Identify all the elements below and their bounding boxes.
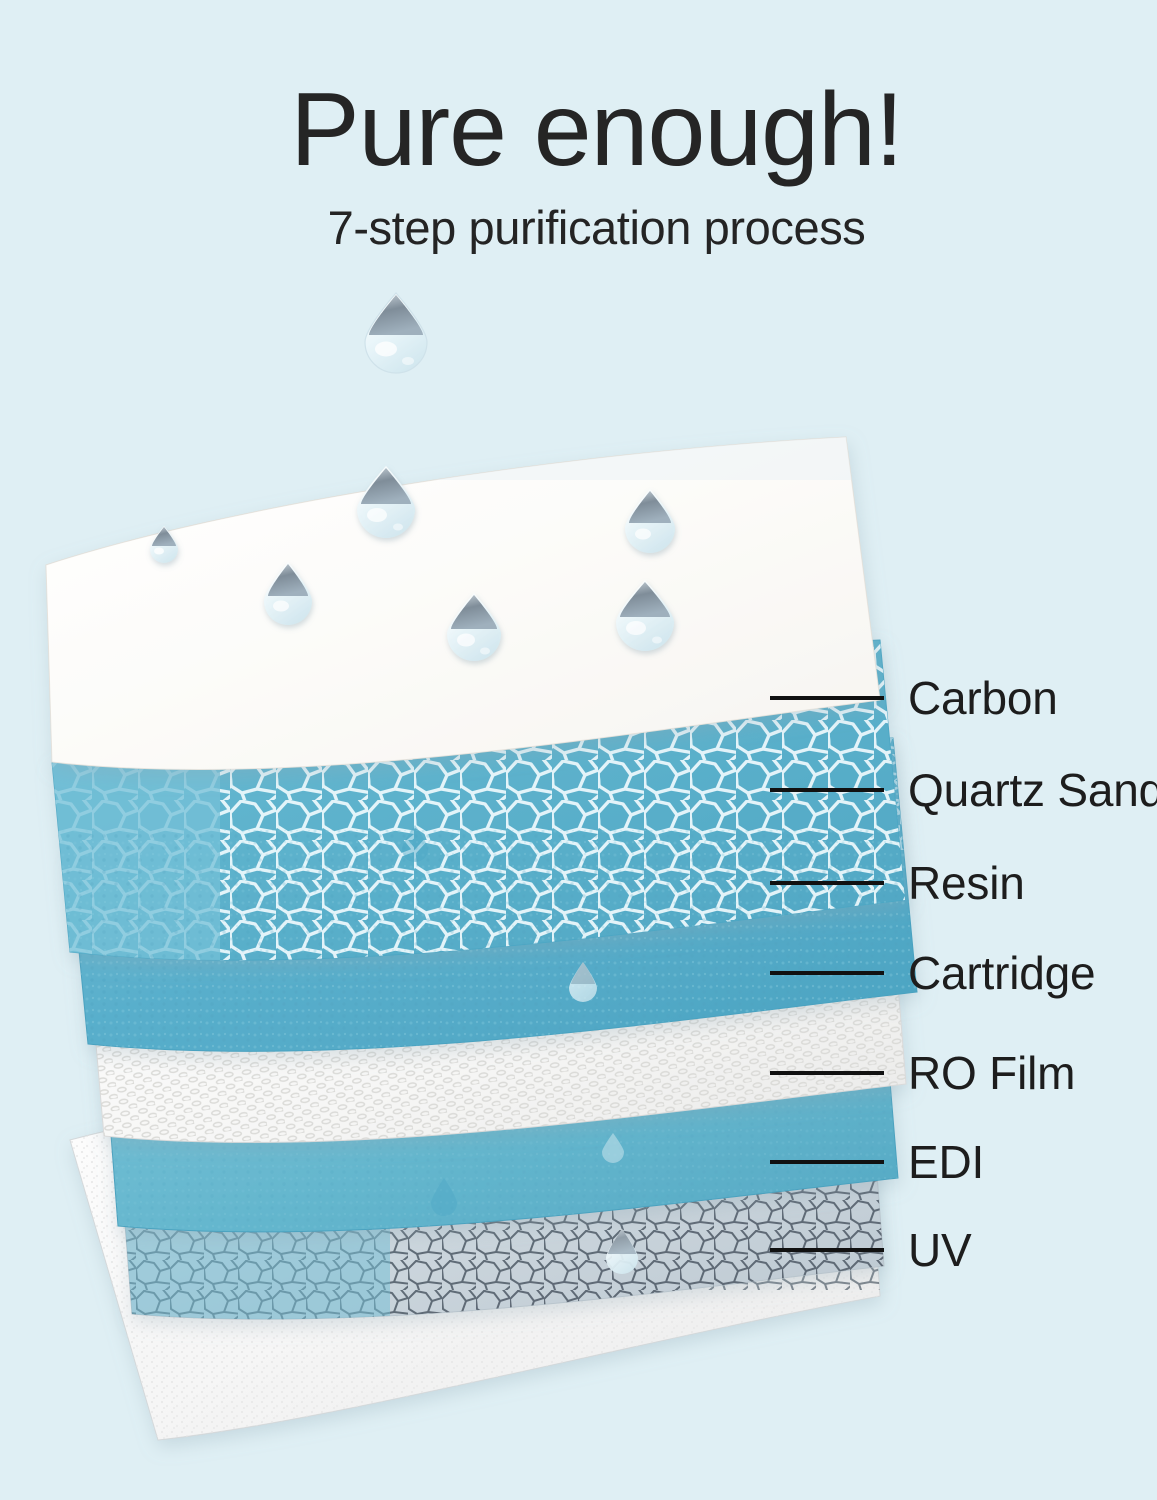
layer-label-quartz-sand: Quartz Sand xyxy=(908,767,1157,813)
layer-label-uv: UV xyxy=(908,1227,972,1273)
leader-line-cartridge xyxy=(770,971,884,975)
leader-line-resin xyxy=(770,881,884,885)
leader-line-edi xyxy=(770,1160,884,1164)
layer-label-ro-film: RO Film xyxy=(908,1050,1075,1096)
layer-label-cartridge: Cartridge xyxy=(908,950,1095,996)
leader-line-uv xyxy=(770,1248,884,1252)
leader-line-quartz-sand xyxy=(770,788,884,792)
layer-label-edi: EDI xyxy=(908,1139,984,1185)
layer-label-list: Carbon Quartz Sand Resin Cartridge RO Fi… xyxy=(0,0,1157,1500)
infographic-canvas: Pure enough! 7-step purification process… xyxy=(0,0,1157,1500)
layer-label-carbon: Carbon xyxy=(908,675,1058,721)
leader-line-carbon xyxy=(770,696,884,700)
layer-label-resin: Resin xyxy=(908,860,1025,906)
leader-line-ro-film xyxy=(770,1071,884,1075)
